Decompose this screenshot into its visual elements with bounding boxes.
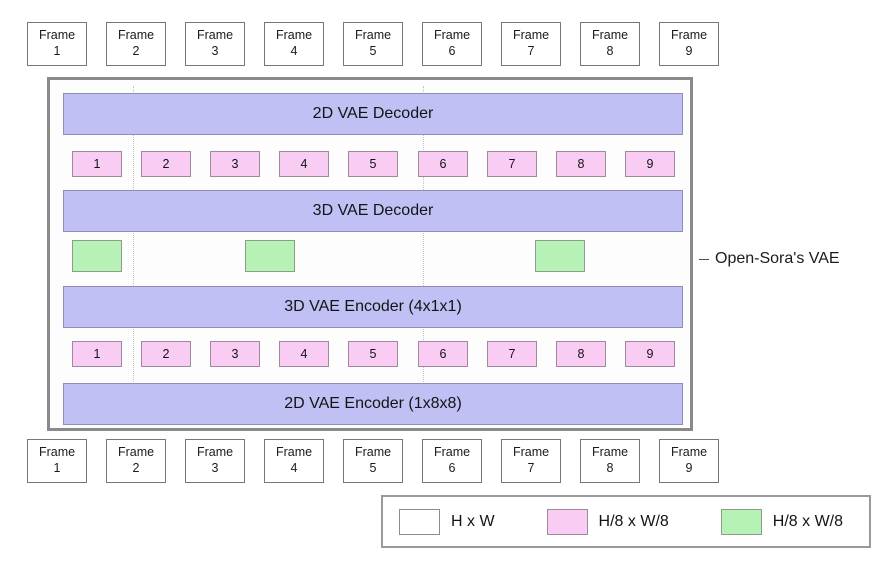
frame-label-line1: Frame bbox=[355, 28, 391, 44]
frame-box-bottom-8: Frame 8 bbox=[580, 439, 640, 483]
pink-token-row-bottom: 1 2 3 4 5 6 7 8 9 bbox=[63, 334, 683, 374]
module-2d-vae-encoder: 2D VAE Encoder (1x8x8) bbox=[63, 383, 683, 425]
diagram-canvas: Frame 1 Frame 2 Frame 3 Frame 4 Frame 5 … bbox=[0, 0, 883, 561]
pink-token-bottom-1: 1 bbox=[72, 341, 122, 367]
frame-label-line2: 8 bbox=[607, 461, 614, 477]
legend-swatch-green bbox=[721, 509, 762, 535]
legend-label: H/8 x W/8 bbox=[599, 513, 669, 531]
module-3d-vae-decoder: 3D VAE Decoder bbox=[63, 190, 683, 232]
pink-token-bottom-9: 9 bbox=[625, 341, 675, 367]
legend-entry-green-latent: H/8 x W/8 bbox=[721, 509, 843, 535]
frame-box-bottom-3: Frame 3 bbox=[185, 439, 245, 483]
pink-token-top-8: 8 bbox=[556, 151, 606, 177]
frame-label-line2: 6 bbox=[449, 44, 456, 60]
frame-label-line2: 8 bbox=[607, 44, 614, 60]
frame-label-line2: 5 bbox=[370, 461, 377, 477]
green-latent-row bbox=[63, 235, 683, 281]
vae-annotation: Open-Sora's VAE bbox=[699, 250, 840, 268]
frame-label-line1: Frame bbox=[434, 445, 470, 461]
frame-box-bottom-1: Frame 1 bbox=[27, 439, 87, 483]
pink-token-top-5: 5 bbox=[348, 151, 398, 177]
legend-swatch-pink bbox=[547, 509, 588, 535]
frame-box-top-5: Frame 5 bbox=[343, 22, 403, 66]
frame-box-bottom-6: Frame 6 bbox=[422, 439, 482, 483]
pink-token-top-2: 2 bbox=[141, 151, 191, 177]
frame-label-line1: Frame bbox=[671, 445, 707, 461]
frame-box-top-9: Frame 9 bbox=[659, 22, 719, 66]
module-label: 3D VAE Decoder bbox=[313, 202, 434, 220]
frame-label-line1: Frame bbox=[592, 28, 628, 44]
frame-label-line2: 1 bbox=[54, 44, 61, 60]
green-latent-token-3 bbox=[535, 240, 585, 272]
frame-label-line1: Frame bbox=[197, 28, 233, 44]
frame-label-line2: 3 bbox=[212, 461, 219, 477]
frame-label-line1: Frame bbox=[118, 28, 154, 44]
green-latent-token-2 bbox=[245, 240, 295, 272]
frame-label-line1: Frame bbox=[197, 445, 233, 461]
pink-token-bottom-2: 2 bbox=[141, 341, 191, 367]
frame-label-line1: Frame bbox=[276, 445, 312, 461]
frame-box-top-8: Frame 8 bbox=[580, 22, 640, 66]
frame-label-line2: 7 bbox=[528, 44, 535, 60]
frame-label-line2: 2 bbox=[133, 44, 140, 60]
pink-token-bottom-4: 4 bbox=[279, 341, 329, 367]
frame-strip-top: Frame 1 Frame 2 Frame 3 Frame 4 Frame 5 … bbox=[27, 22, 727, 66]
pink-token-bottom-7: 7 bbox=[487, 341, 537, 367]
frame-box-top-3: Frame 3 bbox=[185, 22, 245, 66]
pink-token-top-1: 1 bbox=[72, 151, 122, 177]
frame-label-line2: 4 bbox=[291, 461, 298, 477]
frame-label-line2: 3 bbox=[212, 44, 219, 60]
module-label: 2D VAE Encoder (1x8x8) bbox=[284, 395, 462, 413]
module-label: 3D VAE Encoder (4x1x1) bbox=[284, 298, 462, 316]
frame-box-bottom-7: Frame 7 bbox=[501, 439, 561, 483]
pink-token-top-7: 7 bbox=[487, 151, 537, 177]
pink-token-top-3: 3 bbox=[210, 151, 260, 177]
frame-label-line2: 9 bbox=[686, 44, 693, 60]
frame-label-line2: 9 bbox=[686, 461, 693, 477]
legend-entry-full-resolution: H x W bbox=[399, 509, 495, 535]
legend-label: H x W bbox=[451, 513, 495, 531]
frame-label-line1: Frame bbox=[592, 445, 628, 461]
frame-box-bottom-5: Frame 5 bbox=[343, 439, 403, 483]
pink-token-bottom-5: 5 bbox=[348, 341, 398, 367]
frame-label-line1: Frame bbox=[513, 445, 549, 461]
frame-label-line1: Frame bbox=[513, 28, 549, 44]
frame-label-line1: Frame bbox=[39, 445, 75, 461]
legend-entry-pink-latent: H/8 x W/8 bbox=[547, 509, 669, 535]
frame-label-line1: Frame bbox=[355, 445, 391, 461]
frame-box-bottom-9: Frame 9 bbox=[659, 439, 719, 483]
pink-token-top-9: 9 bbox=[625, 151, 675, 177]
frame-box-top-4: Frame 4 bbox=[264, 22, 324, 66]
green-latent-token-1 bbox=[72, 240, 122, 272]
pink-token-row-top: 1 2 3 4 5 6 7 8 9 bbox=[63, 144, 683, 184]
frame-label-line2: 1 bbox=[54, 461, 61, 477]
frame-box-top-1: Frame 1 bbox=[27, 22, 87, 66]
frame-strip-bottom: Frame 1 Frame 2 Frame 3 Frame 4 Frame 5 … bbox=[27, 439, 727, 483]
pink-token-top-4: 4 bbox=[279, 151, 329, 177]
pink-token-bottom-3: 3 bbox=[210, 341, 260, 367]
module-3d-vae-encoder: 3D VAE Encoder (4x1x1) bbox=[63, 286, 683, 328]
frame-box-bottom-2: Frame 2 bbox=[106, 439, 166, 483]
module-label: 2D VAE Decoder bbox=[313, 105, 434, 123]
frame-label-line1: Frame bbox=[118, 445, 154, 461]
frame-label-line1: Frame bbox=[276, 28, 312, 44]
frame-label-line1: Frame bbox=[434, 28, 470, 44]
frame-label-line2: 4 bbox=[291, 44, 298, 60]
module-2d-vae-decoder: 2D VAE Decoder bbox=[63, 93, 683, 135]
frame-box-top-7: Frame 7 bbox=[501, 22, 561, 66]
legend-label: H/8 x W/8 bbox=[773, 513, 843, 531]
frame-label-line2: 7 bbox=[528, 461, 535, 477]
frame-box-bottom-4: Frame 4 bbox=[264, 439, 324, 483]
legend: H x W H/8 x W/8 H/8 x W/8 bbox=[381, 495, 871, 548]
open-sora-vae-container: 2D VAE Decoder 1 2 3 4 5 6 7 8 9 3D VAE … bbox=[47, 77, 693, 431]
frame-label-line2: 6 bbox=[449, 461, 456, 477]
annotation-label: Open-Sora's VAE bbox=[715, 250, 840, 268]
annotation-connector-line bbox=[699, 259, 709, 260]
legend-swatch-white bbox=[399, 509, 440, 535]
frame-label-line2: 2 bbox=[133, 461, 140, 477]
frame-label-line2: 5 bbox=[370, 44, 377, 60]
frame-label-line1: Frame bbox=[39, 28, 75, 44]
frame-box-top-2: Frame 2 bbox=[106, 22, 166, 66]
frame-label-line1: Frame bbox=[671, 28, 707, 44]
pink-token-bottom-6: 6 bbox=[418, 341, 468, 367]
pink-token-bottom-8: 8 bbox=[556, 341, 606, 367]
frame-box-top-6: Frame 6 bbox=[422, 22, 482, 66]
pink-token-top-6: 6 bbox=[418, 151, 468, 177]
